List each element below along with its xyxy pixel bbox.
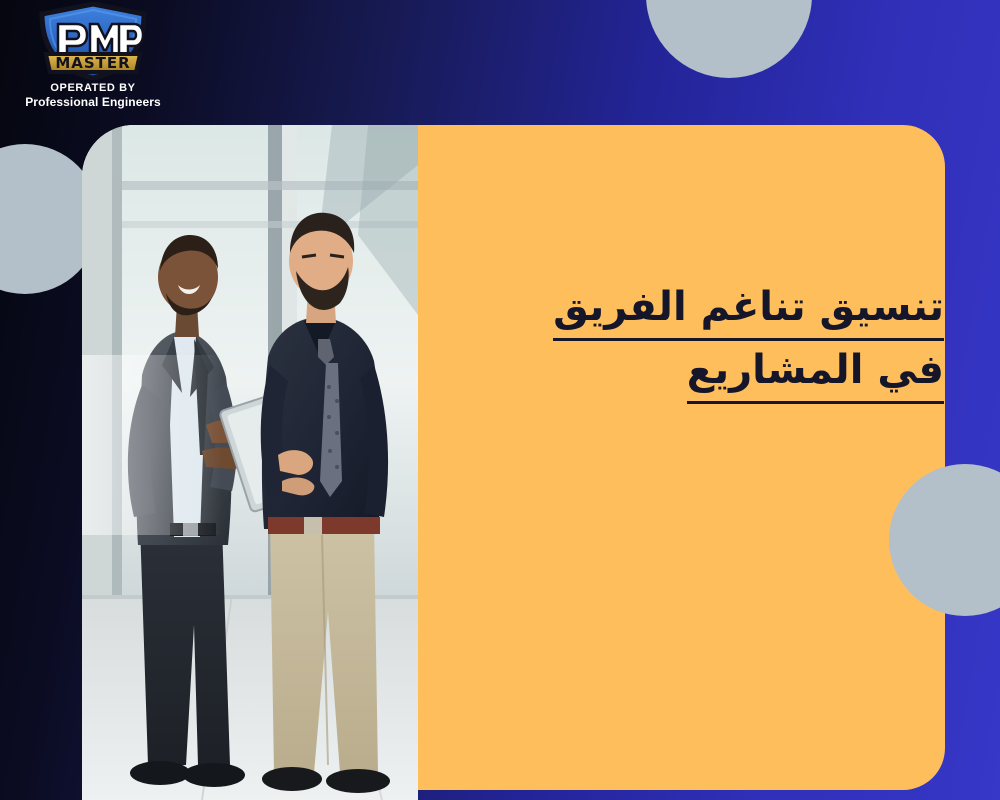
decor-circle-top (646, 0, 812, 78)
poster-canvas: تنسيق تناغم الفريق في المشاريع (0, 0, 1000, 800)
operated-by-name: Professional Engineers (18, 95, 168, 109)
headline-line-2: في المشاريع (424, 341, 944, 404)
brand-logo: MASTER OPERATED BY Professional Engineer… (18, 2, 168, 112)
hero-photo-illustration (82, 125, 418, 800)
pmp-shield-icon: MASTER (32, 2, 154, 80)
svg-text:MASTER: MASTER (55, 54, 130, 72)
hero-photo (82, 125, 418, 800)
headline: تنسيق تناغم الفريق في المشاريع (424, 278, 944, 404)
logo-subtitle: OPERATED BY Professional Engineers (18, 82, 168, 109)
operated-by-label: OPERATED BY (18, 82, 168, 95)
headline-line-1: تنسيق تناغم الفريق (424, 278, 944, 341)
